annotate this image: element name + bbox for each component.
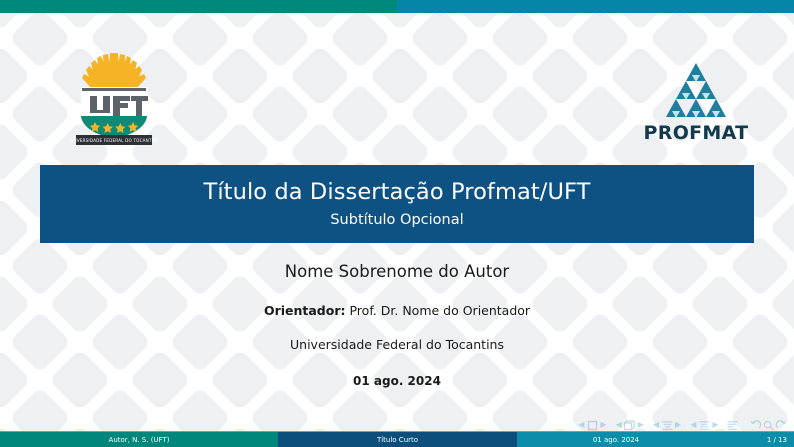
section-icon[interactable] [698, 420, 711, 431]
presentation-date: 01 ago. 2024 [0, 374, 794, 388]
advisor-line: Orientador: Prof. Dr. Nome do Orientador [0, 303, 794, 318]
footer-page-cell: 1 / 13 [715, 432, 794, 447]
top-bar-left-segment [0, 0, 397, 13]
subsection-navigation-group[interactable]: ◀ ▶ [651, 420, 682, 431]
subsection-next-arrow[interactable]: ▶ [674, 421, 683, 429]
subsection-icon[interactable] [661, 420, 674, 431]
footer-title-cell: Título Curto [278, 432, 517, 447]
footer-short-title-label: Título Curto [377, 436, 418, 444]
frame-next-arrow[interactable]: ▶ [636, 421, 645, 429]
footer-date-label: 01 ago. 2024 [593, 436, 639, 444]
subsection-prev-arrow[interactable]: ◀ [651, 421, 660, 429]
presentation-slide: UNIVERSIDADE FEDERAL DO TOCANTINS [0, 0, 794, 447]
advisor-label: Orientador: [264, 303, 346, 318]
author-name: Nome Sobrenome do Autor [0, 262, 794, 282]
page-subtitle: Subtítulo Opcional [330, 212, 463, 228]
forward-icon[interactable] [775, 420, 788, 431]
slide-navigation-group[interactable]: ◀ ▶ [577, 420, 608, 431]
search-icon[interactable] [762, 420, 775, 431]
section-navigation-group[interactable]: ◀ ▶ [689, 420, 720, 431]
top-decoration-bar [0, 0, 794, 13]
footer-author-cell: Autor, N. S. (UFT) [0, 432, 278, 447]
frame-icon[interactable] [623, 420, 636, 431]
slide-prev-arrow[interactable]: ◀ [577, 421, 586, 429]
top-bar-right-segment [397, 0, 794, 13]
profmat-logo: PROFMAT [640, 57, 752, 149]
slide-next-arrow[interactable]: ▶ [599, 421, 608, 429]
frame-prev-arrow[interactable]: ◀ [614, 421, 623, 429]
profmat-wordmark: PROFMAT [644, 122, 749, 144]
uft-logo-banner-text: UNIVERSIDADE FEDERAL DO TOCANTINS [69, 138, 160, 143]
section-next-arrow[interactable]: ▶ [711, 421, 720, 429]
footer-page-number: 1 / 13 [767, 436, 787, 444]
footer-bar: Autor, N. S. (UFT) Título Curto 01 ago. … [0, 432, 794, 447]
title-banner: Título da Dissertação Profmat/UFT Subtít… [40, 165, 754, 243]
institution-name: Universidade Federal do Tocantins [0, 337, 794, 352]
advisor-name: Prof. Dr. Nome do Orientador [349, 303, 530, 318]
slide-icon[interactable] [586, 420, 599, 431]
footer-author-label: Autor, N. S. (UFT) [109, 436, 170, 444]
footer-date-cell: 01 ago. 2024 [517, 432, 715, 447]
presentation-icon[interactable] [726, 420, 739, 431]
page-title: Título da Dissertação Profmat/UFT [203, 180, 590, 205]
author-block: Nome Sobrenome do Autor Orientador: Prof… [0, 262, 794, 388]
section-prev-arrow[interactable]: ◀ [689, 421, 698, 429]
uft-logo: UNIVERSIDADE FEDERAL DO TOCANTINS [68, 47, 160, 151]
frame-navigation-group[interactable]: ◀ ▶ [614, 420, 645, 431]
back-icon[interactable] [749, 420, 762, 431]
